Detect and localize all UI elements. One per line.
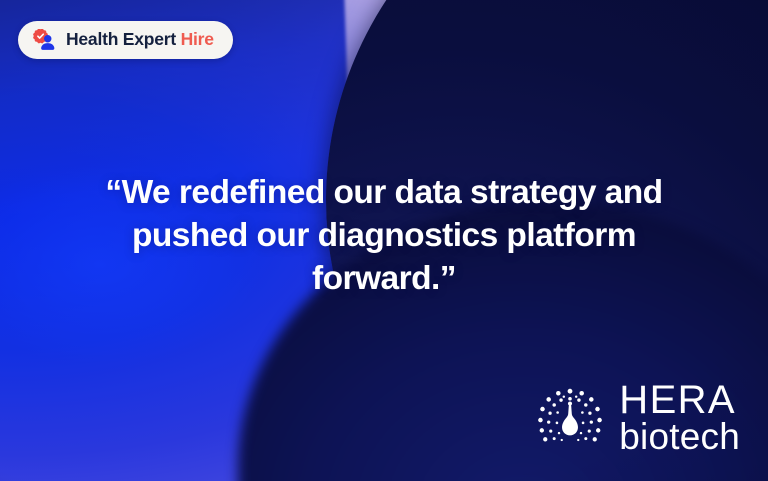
quote-line-1: “We redefined our data strategy and bbox=[74, 172, 694, 215]
testimonial-quote: “We redefined our data strategy and push… bbox=[0, 172, 768, 301]
quote-line-2: pushed our diagnostics platform bbox=[74, 215, 694, 258]
hera-dot-uterus-icon bbox=[535, 385, 605, 451]
brand-badge-label: Health Expert Hire bbox=[66, 31, 214, 49]
testimonial-card: Health Expert Hire “We redefined our dat… bbox=[0, 0, 768, 481]
brand-badge-label-primary: Health Expert bbox=[66, 29, 176, 49]
verified-health-expert-icon bbox=[32, 29, 57, 51]
quote-line-3: forward.” bbox=[74, 258, 694, 301]
company-name-secondary: biotech bbox=[619, 419, 740, 455]
company-name-primary: HERA bbox=[619, 381, 740, 420]
company-logo-wordmark: HERA biotech bbox=[619, 381, 740, 455]
brand-badge-label-accent: Hire bbox=[181, 29, 214, 49]
company-logo: HERA biotech bbox=[535, 381, 740, 455]
brand-badge[interactable]: Health Expert Hire bbox=[18, 21, 233, 59]
